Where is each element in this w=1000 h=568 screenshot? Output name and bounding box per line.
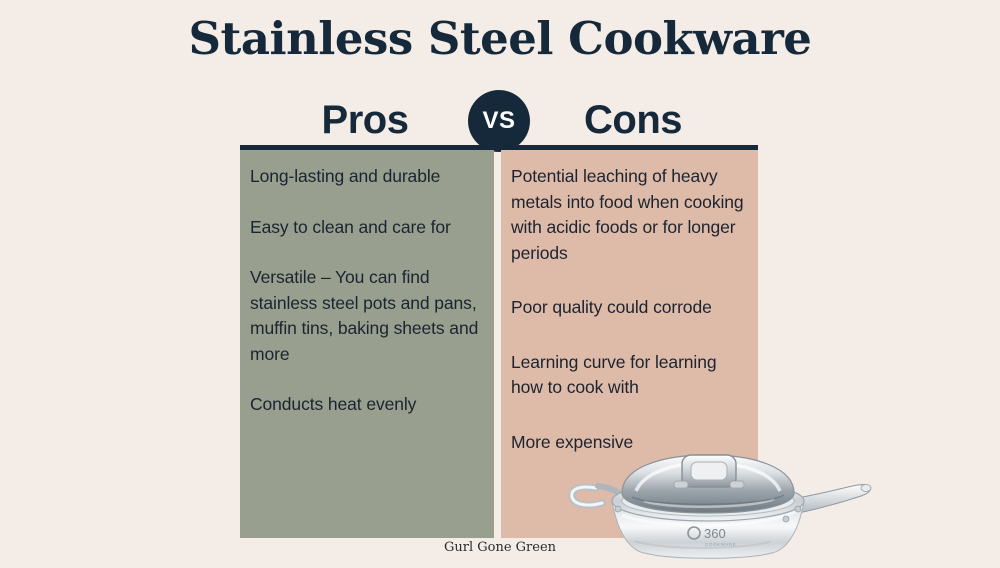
pros-list-item: Easy to clean and care for — [250, 215, 482, 241]
pros-list-item: Versatile – You can find stainless steel… — [250, 265, 482, 367]
cons-list-item: More expensive — [511, 430, 746, 456]
pros-column: Long-lasting and durable Easy to clean a… — [240, 150, 494, 538]
cons-list-item: Potential leaching of heavy metals into … — [511, 164, 746, 266]
comparison-heading-row: Pros vs Cons — [240, 92, 758, 148]
cons-list-item: Poor quality could corrode — [511, 295, 746, 321]
cons-column: Potential leaching of heavy metals into … — [501, 150, 758, 538]
infographic-canvas: Stainless Steel Cookware Pros vs Cons Lo… — [0, 0, 1000, 563]
brand-watermark: Gurl Gone Green — [0, 538, 1000, 558]
pros-list-item: Conducts heat evenly — [250, 392, 482, 418]
page-title: Stainless Steel Cookware — [0, 12, 1000, 66]
pros-list-item: Long-lasting and durable — [250, 164, 482, 190]
cons-list-item: Learning curve for learning how to cook … — [511, 350, 746, 401]
comparison-columns: Long-lasting and durable Easy to clean a… — [240, 150, 758, 538]
cons-column-heading: Cons — [508, 92, 758, 148]
pros-column-heading: Pros — [240, 92, 490, 148]
